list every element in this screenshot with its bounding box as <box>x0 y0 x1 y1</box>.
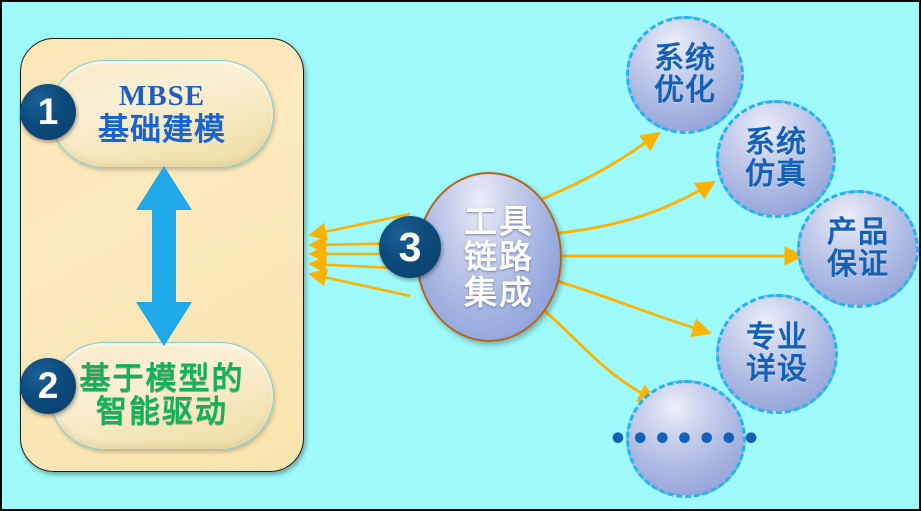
hub-line-2: 链路 <box>444 239 534 274</box>
bubble-1-line1: 系统 <box>745 127 807 159</box>
bubble-system-optimization[interactable]: 系统 优化 <box>626 16 744 134</box>
step-badge-3: 3 <box>379 216 441 278</box>
bubble-specialty-detail-design[interactable]: 专业 详设 <box>716 294 838 414</box>
bubble-1-line2: 仿真 <box>745 159 807 191</box>
bubble-product-assurance[interactable]: 产品 保证 <box>797 190 919 308</box>
bubble-4-dots: ••••••• <box>608 422 763 457</box>
bubble-0-line2: 优化 <box>654 75 716 107</box>
bubble-0-line1: 系统 <box>654 43 716 75</box>
hub-line-3: 集成 <box>444 275 534 310</box>
bubble-more-ellipsis[interactable]: ••••••• <box>626 380 746 498</box>
step-badge-2: 2 <box>20 358 76 414</box>
step-badge-1: 1 <box>20 84 76 140</box>
bubble-3-line2: 详设 <box>746 354 808 386</box>
bubble-2-line2: 保证 <box>827 249 889 281</box>
bubble-2-line1: 产品 <box>827 217 889 249</box>
bubble-3-line1: 专业 <box>746 322 808 354</box>
bubble-system-simulation[interactable]: 系统 仿真 <box>716 100 836 218</box>
diagram-canvas: MBSE 基础建模 基于模型的 智能驱动 1 2 工具 链路 集成 3 系统 优… <box>0 0 921 511</box>
hub-line-1: 工具 <box>444 204 534 239</box>
